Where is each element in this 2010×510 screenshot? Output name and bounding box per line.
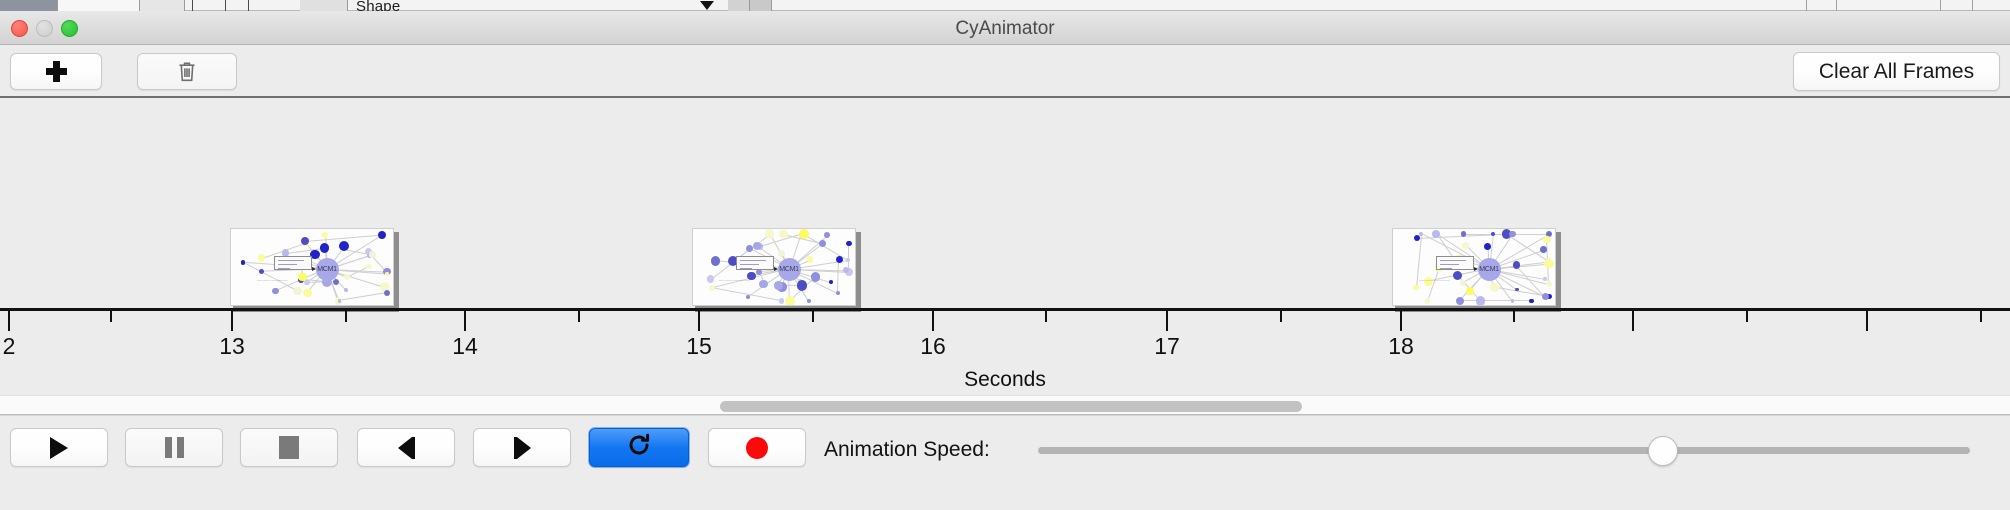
network-node — [1491, 232, 1495, 236]
network-node — [824, 232, 830, 238]
network-node — [709, 285, 715, 291]
network-node — [1456, 297, 1464, 305]
network-node — [779, 298, 784, 303]
skip-forward-icon — [514, 437, 531, 459]
network-node — [797, 280, 807, 290]
network-node — [333, 279, 339, 285]
network-hub-node: MCM1 — [778, 258, 801, 281]
network-node — [320, 243, 329, 252]
window-titlebar[interactable]: CyAnimator — [0, 11, 2010, 45]
network-node — [836, 291, 840, 295]
frame-toolbar: Clear All Frames — [0, 45, 2010, 98]
network-node — [369, 251, 376, 258]
network-node — [779, 230, 788, 239]
playback-toolbar: Animation Speed: — [0, 415, 2010, 478]
network-edge — [837, 260, 839, 293]
network-node — [711, 256, 721, 266]
tooltip-arrow-icon — [1474, 267, 1478, 271]
axis-tick-10 — [1166, 311, 1168, 331]
network-node — [1425, 298, 1430, 303]
play-button[interactable] — [10, 428, 108, 467]
frame-network-preview: MCM1—— ——— —— ———— — [692, 228, 856, 306]
next-frame-button[interactable] — [473, 428, 571, 467]
network-node — [1543, 236, 1551, 244]
loop-button[interactable] — [589, 428, 689, 467]
animation-speed-label: Animation Speed: — [824, 438, 990, 462]
network-node — [759, 280, 768, 289]
network-node — [1466, 287, 1474, 295]
network-node — [385, 272, 389, 276]
delete-frame-button[interactable] — [137, 53, 237, 90]
frame-network-preview: MCM1—— ——— —— ———— — [1392, 228, 1556, 306]
network-node — [819, 240, 826, 247]
animation-speed-slider[interactable] — [1038, 440, 1970, 462]
axis-tick-label: 18 — [1388, 333, 1414, 360]
network-node — [1544, 259, 1554, 269]
network-annotation: —— ——— —— ———— — [257, 279, 288, 282]
axis-tick-label: 13 — [219, 333, 245, 360]
axis-tick-1 — [110, 311, 112, 322]
background-caret-icon — [700, 1, 714, 10]
timeline-axis: Seconds 2131415161718 — [0, 308, 2010, 395]
clear-all-frames-label: Clear All Frames — [1819, 60, 1974, 84]
pause-icon — [165, 437, 184, 458]
clear-all-frames-button[interactable]: Clear All Frames — [1793, 52, 2000, 91]
axis-tick-label: 15 — [686, 333, 712, 360]
background-tab-4 — [300, 0, 348, 11]
network-node — [1476, 296, 1485, 305]
network-hub-node: MCM1 — [316, 258, 339, 281]
frame-thumbnails-area: MCM1—— ——— —— ————MCM1—— ——— —— ————MCM1… — [0, 98, 2010, 308]
network-node — [301, 237, 309, 245]
background-tab-6 — [750, 0, 772, 11]
network-node — [338, 299, 341, 302]
network-node — [303, 289, 312, 298]
frame-thumbnail[interactable]: MCM1—— ——— —— ———— — [230, 228, 396, 308]
frame-thumbnail[interactable]: MCM1—— ——— —— ———— — [692, 228, 858, 308]
network-node — [241, 260, 246, 265]
network-annotation: —— ——— —— ———— — [1419, 279, 1450, 282]
network-node — [807, 256, 814, 263]
network-node — [1462, 242, 1469, 249]
background-window-strip: Shape — [0, 0, 2010, 11]
play-icon — [50, 437, 68, 459]
network-node — [1509, 231, 1515, 237]
network-hub-node: MCM1 — [1478, 258, 1501, 281]
network-node — [1490, 283, 1499, 292]
axis-tick-4 — [464, 311, 466, 331]
network-annotation: —— ——— —— ———— — [719, 279, 750, 282]
axis-tick-11 — [1280, 311, 1282, 322]
record-icon — [746, 437, 768, 459]
frame-thumbnail[interactable]: MCM1—— ——— —— ———— — [1392, 228, 1558, 308]
network-tooltip — [1436, 256, 1474, 270]
pause-button[interactable] — [125, 428, 223, 467]
network-node — [384, 290, 390, 296]
network-node — [1542, 293, 1549, 300]
axis-tick-9 — [1045, 311, 1047, 322]
network-edge — [339, 292, 387, 301]
network-node — [811, 272, 821, 282]
stop-icon — [279, 436, 299, 459]
network-node — [774, 281, 783, 290]
network-node — [746, 245, 753, 252]
axis-tick-8 — [932, 311, 934, 331]
skip-back-icon — [398, 437, 415, 459]
background-app-label: Shape — [356, 0, 400, 11]
network-node — [707, 275, 714, 282]
network-node — [1515, 288, 1519, 292]
network-node — [344, 288, 348, 292]
loop-icon — [626, 432, 652, 463]
timeline-scrollbar-thumb[interactable] — [720, 401, 1302, 412]
cyanimator-window: CyAnimator Clear All Frames MCM1—— ——— —… — [0, 11, 2010, 510]
add-frame-button[interactable] — [10, 53, 102, 90]
background-tab-5 — [728, 0, 750, 11]
network-node — [1414, 235, 1420, 241]
trash-icon — [178, 61, 196, 82]
axis-tick-label: 14 — [452, 333, 478, 360]
stop-button[interactable] — [240, 428, 338, 467]
axis-tick-label: 17 — [1154, 333, 1180, 360]
network-node — [829, 280, 833, 284]
background-tab-1 — [0, 0, 58, 11]
axis-title: Seconds — [0, 368, 2010, 392]
network-node — [366, 264, 372, 270]
network-node — [1543, 277, 1546, 280]
network-tooltip — [274, 256, 312, 270]
axis-tick-13 — [1513, 311, 1515, 322]
network-node — [304, 280, 309, 285]
network-node — [785, 296, 795, 306]
network-node — [1461, 231, 1466, 236]
background-tab-3 — [140, 0, 185, 11]
axis-tick-0 — [8, 311, 10, 331]
window-title: CyAnimator — [0, 18, 2010, 40]
network-node — [846, 241, 852, 247]
network-tooltip — [736, 256, 774, 270]
plus-icon — [46, 61, 67, 82]
axis-tick-15 — [1746, 311, 1748, 322]
axis-tick-12 — [1400, 311, 1402, 331]
network-node — [753, 242, 761, 250]
axis-line — [0, 308, 2010, 311]
axis-tick-2 — [231, 311, 233, 331]
axis-tick-3 — [345, 311, 347, 322]
network-node — [344, 274, 350, 280]
axis-tick-6 — [698, 311, 700, 331]
network-node — [1460, 280, 1465, 285]
network-node — [1513, 261, 1521, 269]
network-node — [272, 288, 278, 294]
previous-frame-button[interactable] — [357, 428, 455, 467]
background-tab-2 — [58, 0, 140, 11]
slider-track — [1038, 447, 1970, 454]
network-edge — [1460, 300, 1532, 301]
axis-tick-14 — [1632, 311, 1634, 331]
network-node — [322, 232, 328, 238]
network-node — [258, 254, 265, 261]
tooltip-arrow-icon — [774, 267, 778, 271]
timeline-panel[interactable]: MCM1—— ——— —— ————MCM1—— ——— —— ————MCM1… — [0, 98, 2010, 395]
tooltip-arrow-icon — [312, 267, 316, 271]
network-node — [1511, 299, 1515, 303]
network-node — [836, 256, 843, 263]
network-node — [293, 287, 302, 296]
axis-tick-label: 16 — [920, 333, 946, 360]
timeline-scrollbar[interactable] — [0, 395, 2010, 415]
axis-tick-16 — [1866, 311, 1868, 331]
network-node — [1413, 285, 1418, 290]
network-node — [1546, 281, 1552, 287]
axis-tick-5 — [578, 311, 580, 322]
network-node — [846, 258, 849, 261]
slider-thumb[interactable] — [1648, 436, 1678, 466]
network-node — [778, 250, 785, 257]
network-node — [1419, 232, 1424, 237]
network-node — [807, 299, 811, 303]
axis-tick-label: 2 — [3, 333, 16, 360]
network-node — [378, 231, 386, 239]
network-node — [298, 273, 307, 282]
axis-tick-7 — [812, 311, 814, 322]
record-button[interactable] — [708, 428, 806, 467]
network-node — [1529, 299, 1534, 304]
axis-tick-17 — [1980, 311, 1982, 322]
network-node — [746, 295, 750, 299]
frame-network-preview: MCM1—— ——— —— ———— — [230, 228, 394, 306]
network-node — [765, 229, 774, 238]
network-node — [1484, 243, 1491, 250]
